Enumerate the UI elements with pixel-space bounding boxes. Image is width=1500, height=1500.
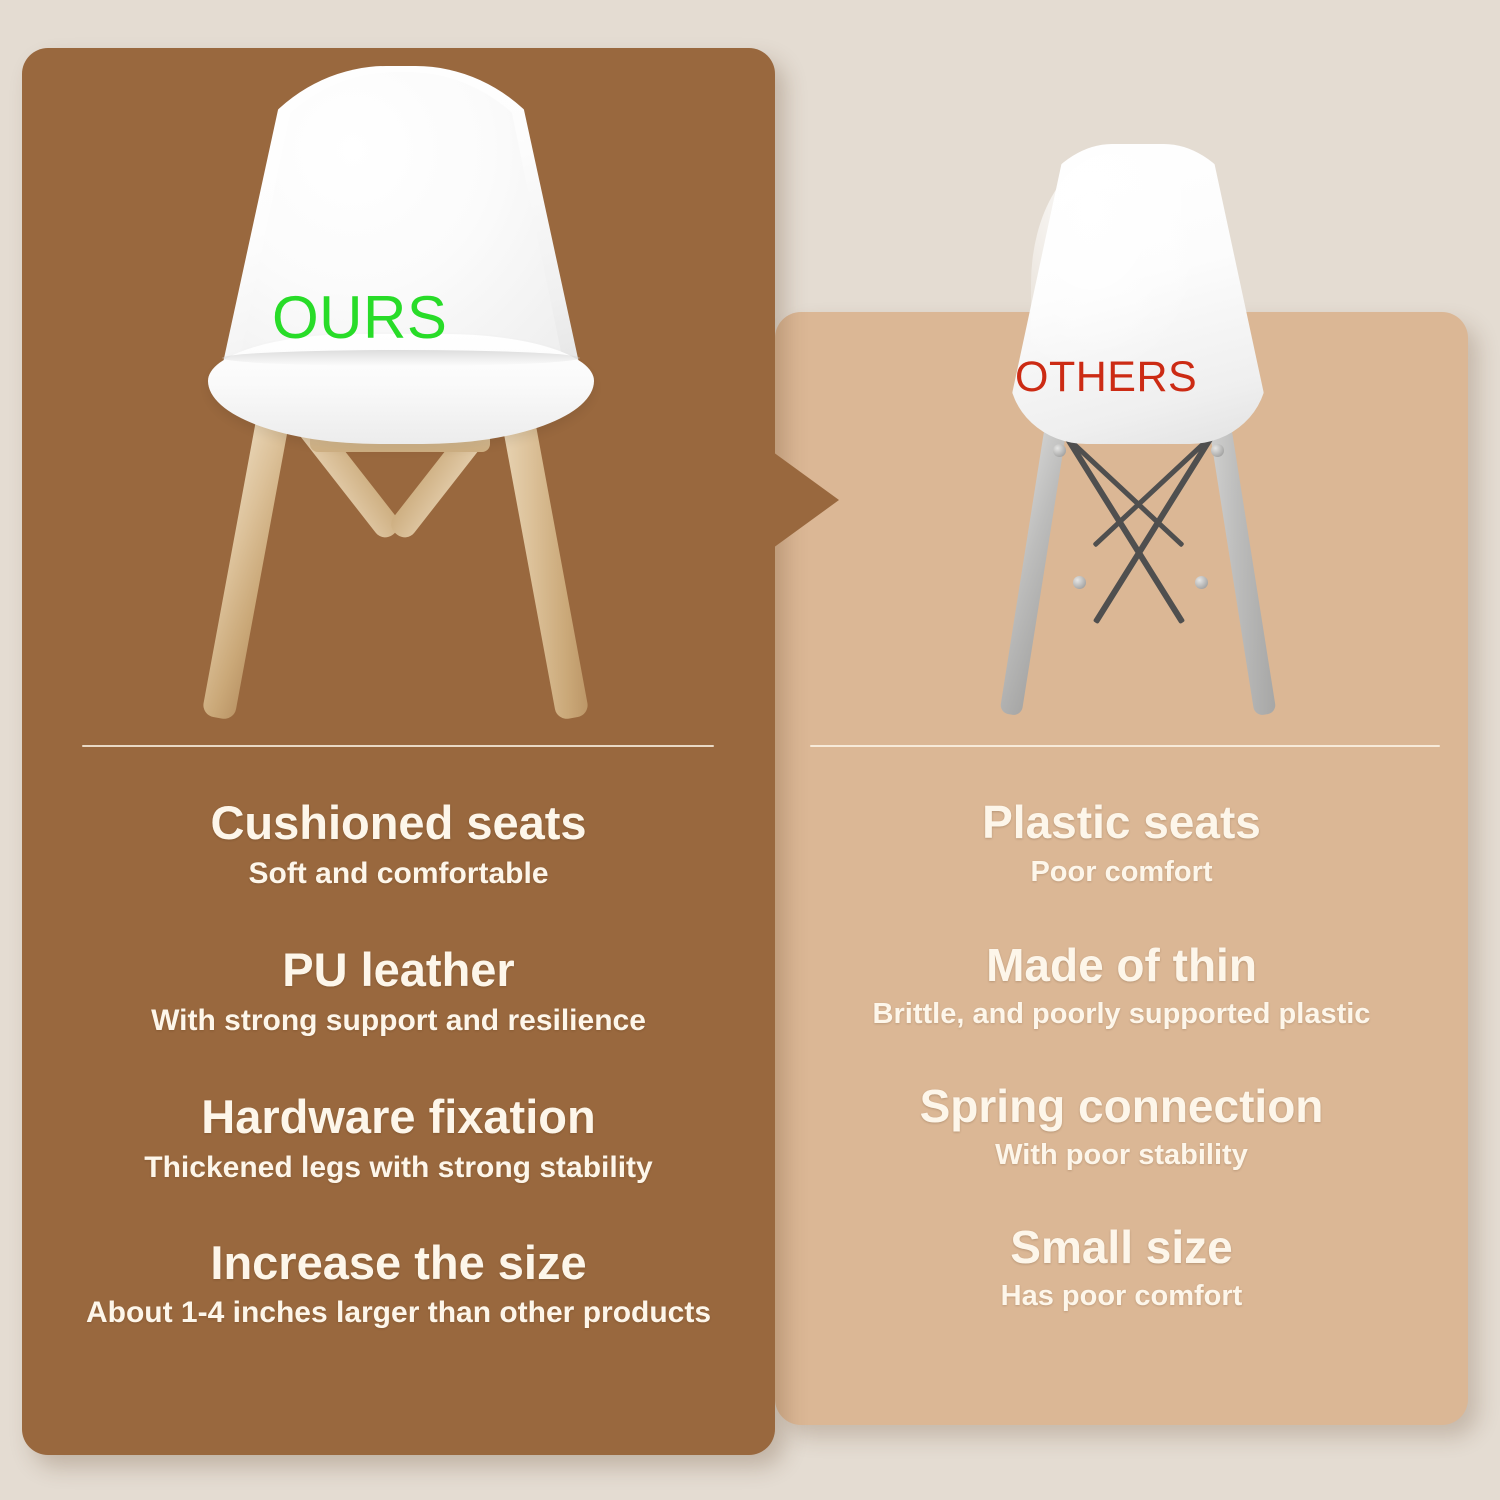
others-feature-subtitle: Has poor comfort [780,1278,1463,1314]
ours-chair-image [22,48,775,745]
others-chair-screw-top-right [1211,444,1224,457]
others-feature-title: Small size [780,1222,1463,1273]
ours-divider [82,745,714,747]
others-chair-image [775,130,1468,745]
others-chair-screw-mid-left [1073,576,1086,589]
ours-feature-title: PU leather [30,944,767,996]
ours-feature-title: Hardware fixation [30,1091,767,1143]
others-chair-leg-left [999,424,1066,716]
ours-feature-item: PU leather With strong support and resil… [30,944,767,1039]
others-feature-item: Plastic seats Poor comfort [780,797,1463,890]
ours-feature-item: Cushioned seats Soft and comfortable [30,797,767,892]
others-stamp-label: OTHERS [1015,353,1197,402]
ours-feature-item: Hardware fixation Thickened legs with st… [30,1091,767,1186]
ours-chair-leg-right [500,408,589,721]
ours-feature-subtitle: Thickened legs with strong stability [30,1149,767,1187]
ours-feature-list: Cushioned seats Soft and comfortable PU … [30,775,767,1435]
others-chair-screw-mid-right [1195,576,1208,589]
others-chair-screw-top-left [1053,444,1066,457]
ours-chair-cushion-seam [222,350,580,366]
others-feature-title: Spring connection [780,1081,1463,1132]
ours-chair-illustration [200,66,600,726]
ours-feature-item: Increase the size About 1-4 inches large… [30,1237,767,1332]
ours-feature-title: Cushioned seats [30,797,767,849]
others-feature-list: Plastic seats Poor comfort Made of thin … [780,775,1463,1395]
ours-chair-leg-left [201,408,290,721]
others-feature-subtitle: Poor comfort [780,854,1463,890]
ours-feature-title: Increase the size [30,1237,767,1289]
others-divider [810,745,1440,747]
ours-stamp-label: OURS [272,283,447,352]
others-feature-item: Small size Has poor comfort [780,1222,1463,1315]
others-chair-illustration [987,144,1287,719]
others-feature-item: Made of thin Brittle, and poorly support… [780,940,1463,1033]
comparison-infographic: OURS OTHERS Cushioned seats Soft and com… [0,0,1500,1500]
others-feature-subtitle: Brittle, and poorly supported plastic [780,996,1463,1032]
others-chair-leg-right [1209,424,1276,716]
ours-feature-subtitle: Soft and comfortable [30,855,767,893]
others-feature-subtitle: With poor stability [780,1137,1463,1173]
ours-feature-subtitle: About 1-4 inches larger than other produ… [30,1294,767,1332]
others-feature-item: Spring connection With poor stability [780,1081,1463,1174]
ours-feature-subtitle: With strong support and resilience [30,1002,767,1040]
others-feature-title: Made of thin [780,940,1463,991]
others-feature-title: Plastic seats [780,797,1463,848]
